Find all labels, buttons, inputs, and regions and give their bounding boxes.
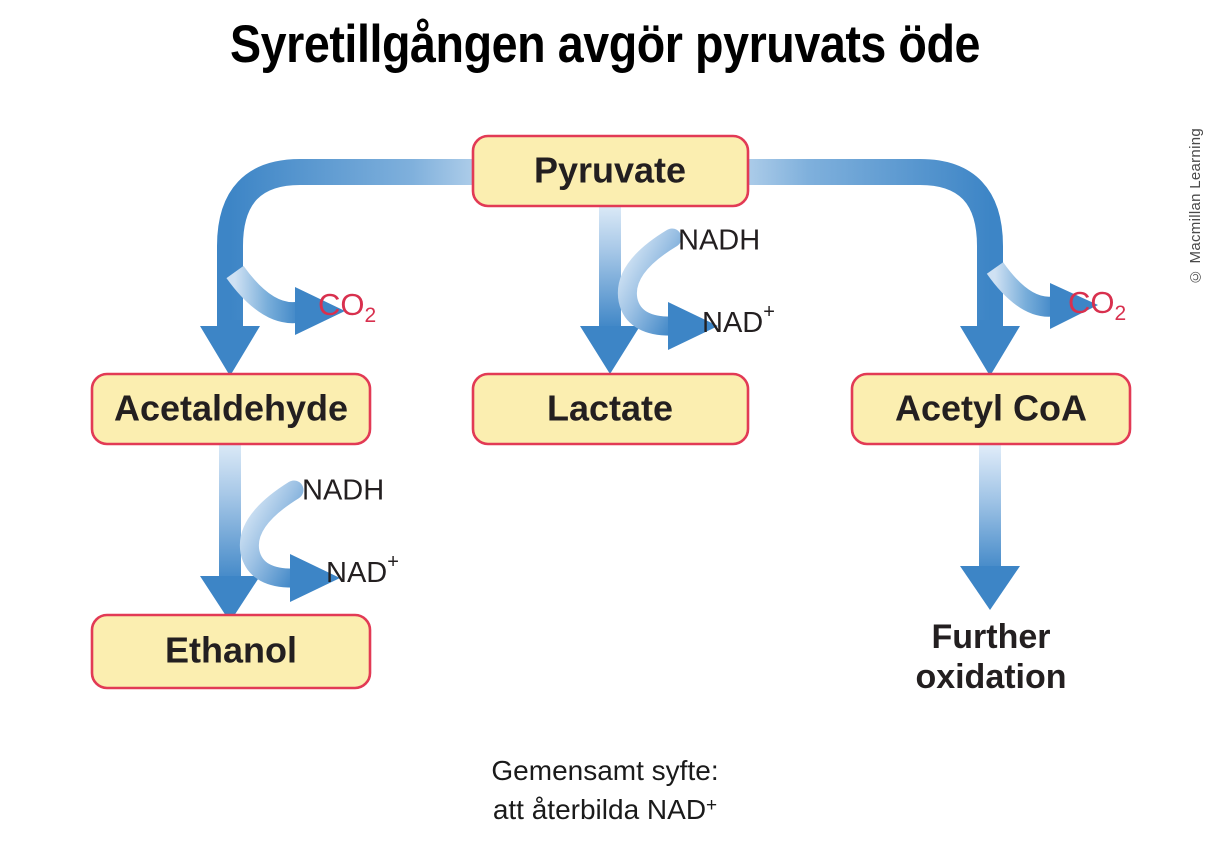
pyruvate-label: Pyruvate [534,150,686,191]
node-pyruvate[interactable]: Pyruvate [473,136,748,206]
further-oxidation-label-line2: oxidation [915,658,1066,696]
further-oxidation-label-line1: Further [932,618,1051,656]
node-lactate[interactable]: Lactate [473,374,748,444]
node-ethanol[interactable]: Ethanol [92,615,370,688]
node-further-oxidation: Further oxidation [915,618,1066,696]
pyruvate-fate-diagram: CO2 NADH NAD+ CO2 NADH NAD+ [0,0,1210,842]
co2-label-right: CO2 [1068,285,1126,324]
caption-line-1: Gemensamt syfte: [0,752,1210,791]
acetyl-coa-label: Acetyl CoA [895,388,1087,429]
nadh-label-ethanol: NADH [302,475,384,507]
acetaldehyde-label: Acetaldehyde [114,388,348,429]
caption-line-2-text: att återbilda NAD [493,794,706,825]
ethanol-label: Ethanol [165,630,297,671]
caption-nad-superscript: + [706,795,717,816]
copyright-notice: © Macmillan Learning [1187,128,1204,285]
lactate-label: Lactate [547,388,673,429]
node-acetyl-coa[interactable]: Acetyl CoA [852,374,1130,444]
caption-line-2: att återbilda NAD+ [0,791,1210,830]
nad-plus-label-ethanol: NAD+ [326,551,399,588]
co2-label-left: CO2 [318,287,376,326]
edge-acetyl-coa-to-further-oxidation [960,443,1020,610]
caption: Gemensamt syfte: att återbilda NAD+ [0,752,1210,829]
node-acetaldehyde[interactable]: Acetaldehyde [92,374,370,444]
nadh-label-lactate: NADH [678,225,760,257]
nad-plus-label-lactate: NAD+ [702,301,775,338]
